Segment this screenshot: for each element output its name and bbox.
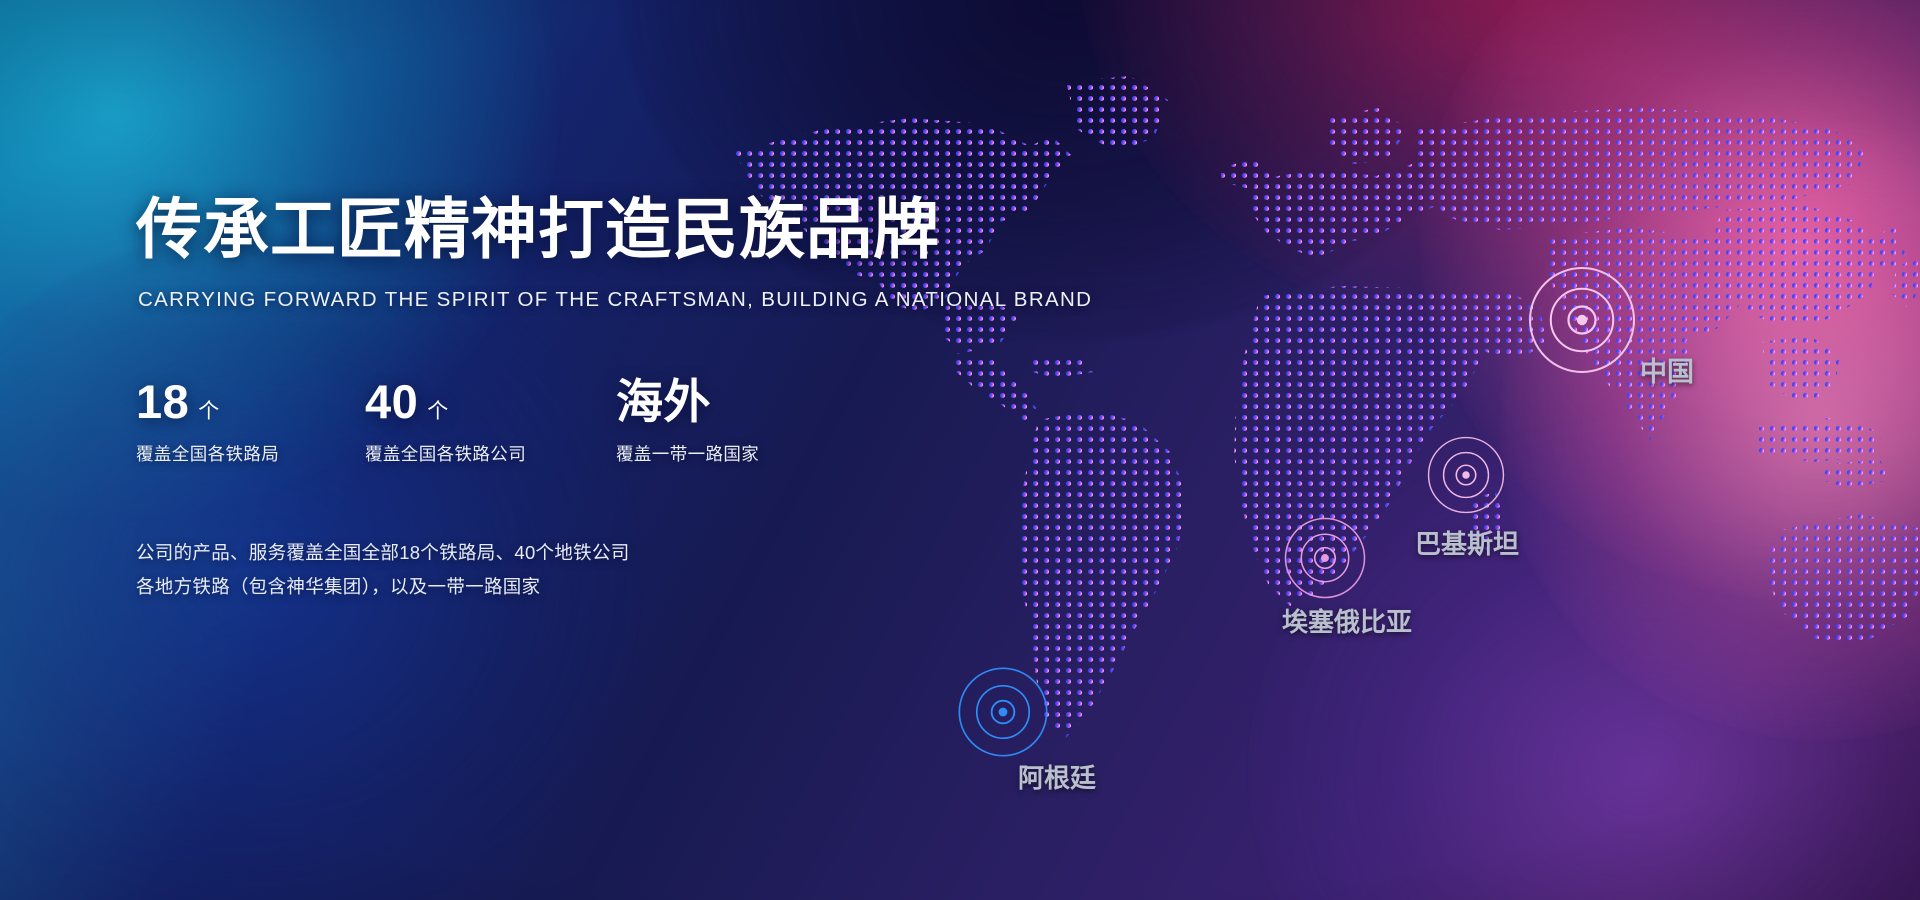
- vignette-overlay: [0, 0, 1920, 900]
- hero-banner: 中国巴基斯坦埃塞俄比亚阿根廷 传承工匠精神打造民族品牌 CARRYING FOR…: [0, 0, 1920, 900]
